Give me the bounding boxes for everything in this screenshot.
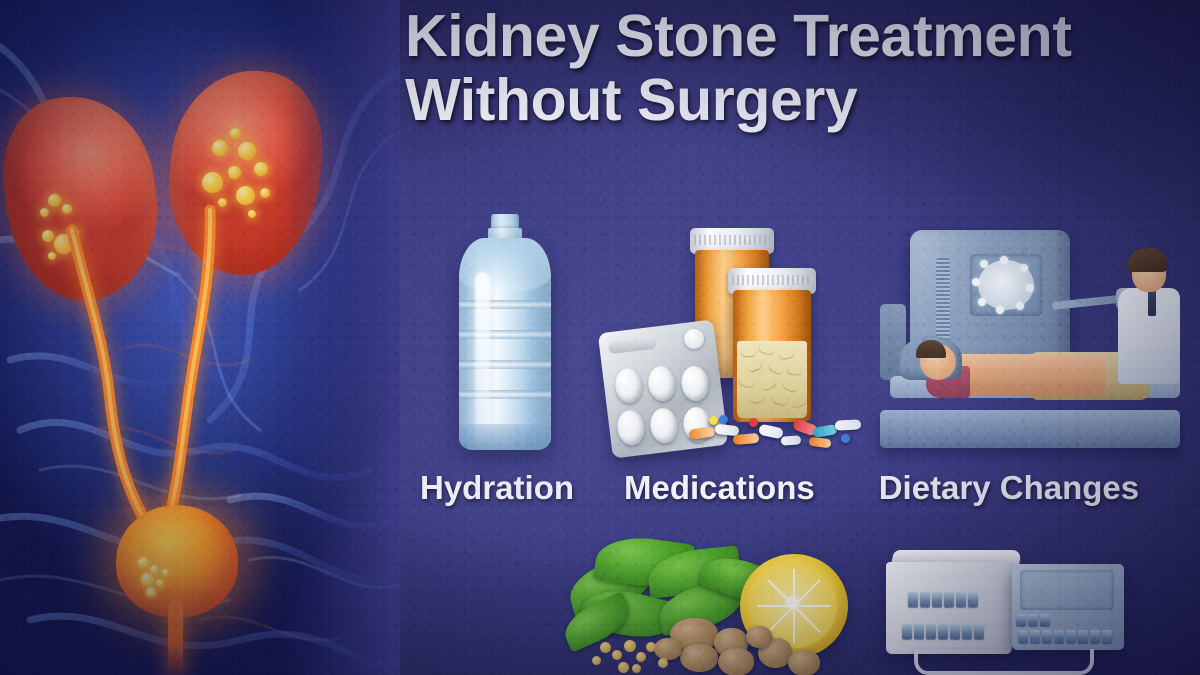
doctor-hair — [1128, 248, 1168, 272]
urinary-system-illustration — [0, 0, 400, 675]
console-right-body — [1012, 564, 1124, 650]
machine-base — [880, 410, 1180, 448]
console-keypad-long — [1018, 630, 1112, 643]
lithotripsy-machine-icon — [880, 226, 1190, 448]
bottle-base — [459, 424, 551, 450]
blister-round-tablet — [683, 328, 705, 350]
nut — [788, 650, 820, 675]
console-keypad-small — [1016, 614, 1050, 626]
machine-display — [970, 254, 1042, 316]
seed — [632, 664, 641, 673]
water-bottle-icon — [455, 214, 555, 454]
seed — [658, 658, 668, 668]
pill-bottle-front — [733, 290, 811, 422]
nut — [680, 644, 718, 672]
seed — [618, 662, 629, 673]
urethra — [168, 600, 183, 675]
label-hydration: Hydration — [420, 469, 574, 507]
bottle-rib — [459, 300, 551, 309]
seed — [600, 642, 611, 653]
seed — [592, 656, 601, 665]
title-line-2: Without Surgery — [405, 70, 1175, 130]
bottle-rib — [459, 360, 551, 369]
label-dietary-changes: Dietary Changes — [879, 469, 1139, 507]
bottle-rib — [459, 390, 551, 399]
blister-label-strip — [608, 336, 657, 355]
title-line-1: Kidney Stone Treatment — [405, 3, 1072, 69]
spinach-lemon-nuts-icon — [562, 534, 882, 675]
seed — [646, 642, 656, 652]
scattered-pills — [689, 414, 865, 450]
console-button-row-bottom — [902, 624, 984, 639]
console-handle — [914, 649, 1094, 675]
bottle-body — [459, 238, 551, 450]
bottle-shoulder — [459, 238, 551, 292]
label-medications: Medications — [624, 469, 815, 507]
blister-tablet — [648, 407, 679, 445]
console-screen — [1020, 570, 1114, 610]
medical-console-icon — [878, 548, 1130, 675]
seed — [612, 650, 622, 660]
console-button-row-top — [908, 592, 978, 607]
infographic-poster: Kidney Stone Treatment Without Surgery — [0, 0, 1200, 675]
capsules-in-bottle — [737, 341, 807, 418]
blister-tablet — [613, 367, 644, 405]
pill-bottles-icon — [605, 222, 865, 454]
blister-tablet — [680, 365, 711, 403]
blister-tablet — [646, 365, 677, 403]
console-left-body — [886, 562, 1012, 654]
nut — [746, 626, 772, 648]
seed — [636, 652, 646, 662]
bottle-rib — [459, 330, 551, 339]
almond — [654, 638, 682, 660]
nut — [718, 648, 754, 675]
doctor-tie — [1148, 290, 1156, 316]
bottle-highlight — [475, 272, 490, 444]
treatment-labels-row: Hydration Medications Dietary Changes — [400, 466, 1200, 510]
blister-tablet — [615, 409, 646, 447]
right-ureter — [100, 210, 340, 530]
seed — [624, 640, 636, 652]
page-title: Kidney Stone Treatment Without Surgery — [405, 6, 1175, 130]
